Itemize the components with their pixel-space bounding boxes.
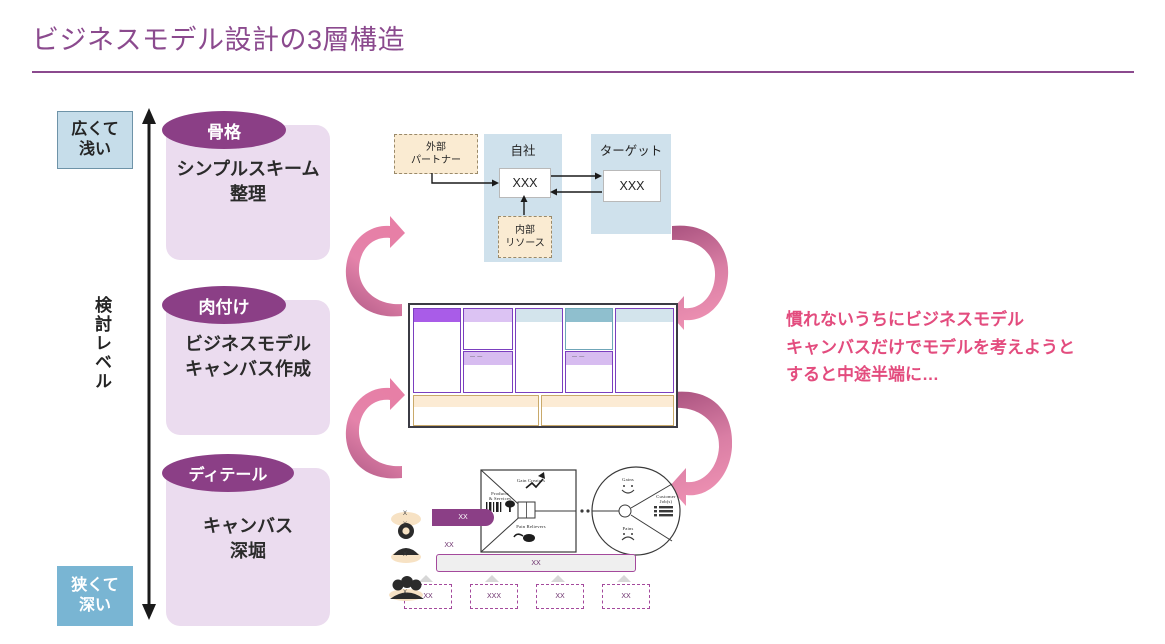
bmc-cell-2-top	[463, 308, 513, 350]
diagram-value-proposition-canvas: Gain Creators Products & Services Pain R…	[386, 458, 692, 638]
scheme-connectors	[386, 128, 692, 268]
layer-card-detail: ディテール キャンバス 深堀	[166, 468, 330, 626]
layer-tag-skeleton: 骨格	[162, 111, 286, 149]
badge-broad-shallow-line2: 浅い	[79, 140, 111, 160]
bmc-cell-1	[413, 308, 461, 393]
vpc-label-products-services: Products & Services	[483, 491, 517, 501]
bmc-mini-label-2: — —	[470, 354, 483, 360]
bmc-cell-revenue	[541, 395, 674, 426]
vpc-label-pains: Pains	[612, 526, 644, 531]
vpc-dash-chip-2: XXX	[470, 584, 518, 609]
title-divider	[32, 71, 1134, 73]
layer-card-fleshing: 肉付け ビジネスモデル キャンバス作成	[166, 300, 330, 435]
layer-tag-detail: ディテール	[162, 454, 294, 492]
bmc-mini-label-4: — —	[572, 354, 585, 360]
vpc-label-gains: Gains	[612, 477, 644, 482]
bmc-head-cost	[414, 396, 538, 407]
vpc-tiny-x-2: X	[403, 522, 407, 528]
axis-label: 検討レベル	[88, 296, 114, 391]
vpc-tiny-x-4: X	[403, 590, 407, 596]
bmc-head-2	[464, 309, 512, 322]
bmc-cell-4-top	[565, 308, 613, 350]
vpc-dash-chip-4: XX	[602, 584, 650, 609]
page-title: ビジネスモデル設計の3層構造	[32, 18, 405, 57]
layer-body-fleshing: ビジネスモデル キャンバス作成	[166, 332, 330, 382]
bmc-cell-cost	[413, 395, 539, 426]
depth-axis-arrow	[137, 108, 161, 620]
vpc-bar: XX	[436, 554, 636, 572]
slide-canvas: ビジネスモデル設計の3層構造 広くて 浅い 狭くて 深い 検討レベル 骨格 シン…	[0, 0, 1165, 644]
side-note: 慣れないうちにビジネスモデル キャンバスだけでモデルを考えようと すると中途半端…	[786, 306, 1116, 389]
bmc-cell-2-bottom: — —	[463, 351, 513, 393]
person-icons	[386, 513, 446, 623]
vpc-tiny-x-1: X	[403, 511, 407, 517]
layer-body-detail: キャンバス 深堀	[166, 514, 330, 564]
bmc-head-3	[516, 309, 562, 322]
bmc-cell-5	[615, 308, 674, 393]
bmc-cell-3	[515, 308, 563, 393]
badge-narrow-deep-line1: 狭くて	[71, 576, 119, 596]
diagram-simple-scheme: 自社 ターゲット 外部 パートナー XXX XXX 内部 リソース	[386, 128, 692, 268]
bmc-head-5	[616, 309, 673, 322]
badge-narrow-deep-line2: 深い	[79, 596, 111, 616]
layer-card-skeleton: 骨格 シンプルスキーム 整理	[166, 125, 330, 260]
badge-broad-shallow: 広くて 浅い	[57, 111, 133, 169]
bmc-head-1	[414, 309, 460, 322]
diagram-bmc-grid: — — — —	[408, 303, 678, 428]
layer-tag-fleshing: 肉付け	[162, 286, 286, 324]
vpc-label-pain-relievers: Pain Relievers	[503, 524, 559, 529]
badge-narrow-deep: 狭くて 深い	[57, 566, 133, 626]
badge-broad-shallow-line1: 広くて	[71, 120, 119, 140]
vpc-label-customer-jobs: Customer Job(s)	[650, 494, 682, 504]
vpc-dash-chip-3: XX	[536, 584, 584, 609]
vpc-tiny-x-3: X	[403, 552, 407, 558]
bmc-head-revenue	[542, 396, 673, 407]
vpc-label-gain-creators: Gain Creators	[503, 478, 559, 483]
bmc-cell-4-bottom: — —	[565, 351, 613, 393]
layer-body-skeleton: シンプルスキーム 整理	[166, 157, 330, 207]
bmc-head-4	[566, 309, 612, 322]
